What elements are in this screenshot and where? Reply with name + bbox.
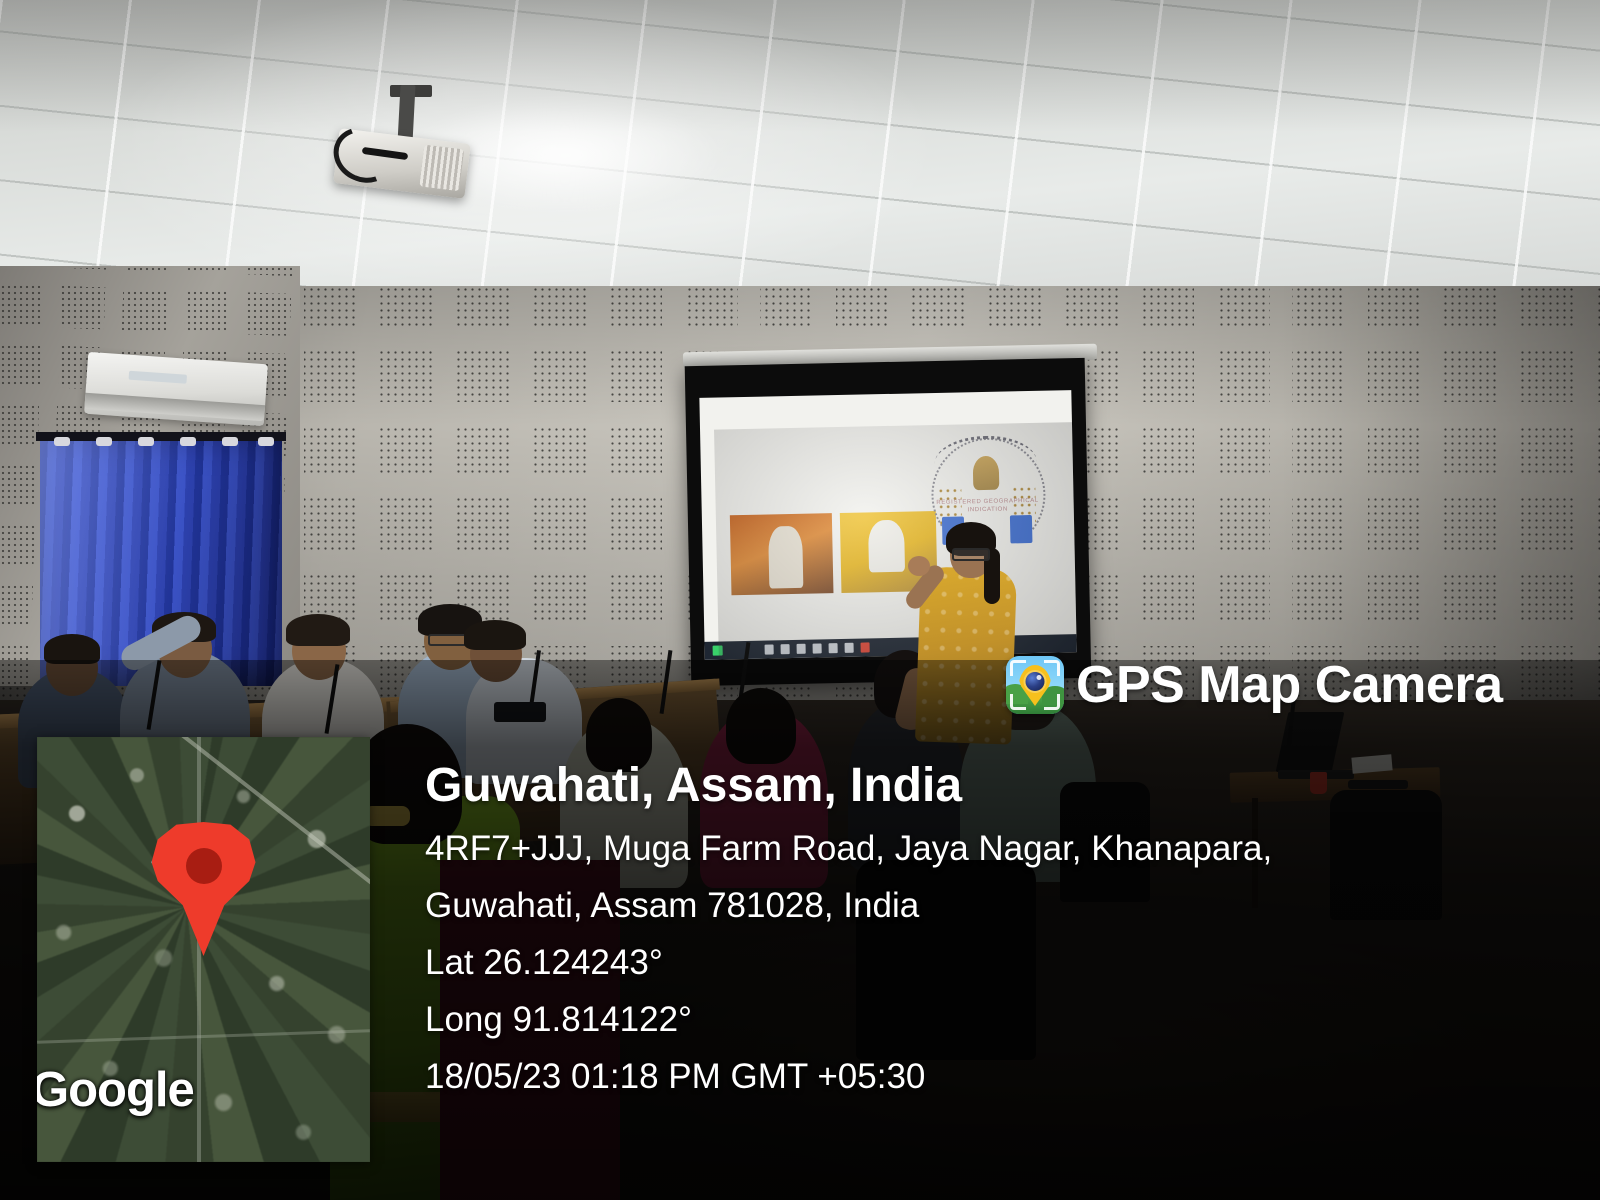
projector-mount-pole xyxy=(397,85,415,143)
curtain-ring xyxy=(258,437,274,446)
taskbar-app-icon xyxy=(797,644,806,654)
map-thumbnail[interactable]: Google xyxy=(37,737,370,1162)
projection-screen-frame: REGISTERED GEOGRAPHICAL INDICATION xyxy=(685,358,1092,686)
latitude-value: Lat 26.124243° xyxy=(425,934,1272,991)
curtain-ring xyxy=(96,437,112,446)
slide-photo-left xyxy=(730,513,834,595)
map-pin-icon xyxy=(152,822,256,956)
taskbar-app-icon xyxy=(813,643,822,653)
curtain-ring xyxy=(54,437,70,446)
taskbar-app-icon xyxy=(781,644,790,654)
gps-map-camera-logo-icon xyxy=(1006,656,1064,714)
curtain-rod xyxy=(36,432,286,441)
app-name-label: GPS Map Camera xyxy=(1076,659,1503,711)
ac-display-strip xyxy=(129,371,187,384)
taskbar-start-icon xyxy=(713,645,723,655)
curtain-ring xyxy=(180,437,196,446)
taskbar-app-icon xyxy=(861,642,870,652)
google-watermark: Google xyxy=(37,1062,194,1118)
curtain-ring xyxy=(222,437,238,446)
longitude-value: Long 91.814122° xyxy=(425,991,1272,1048)
projection-screen-surface: REGISTERED GEOGRAPHICAL INDICATION xyxy=(699,390,1076,660)
audience-person-hair xyxy=(464,620,526,650)
presenter-hand xyxy=(908,556,930,576)
slide-caption: REGISTERED GEOGRAPHICAL INDICATION xyxy=(930,497,1046,515)
curtain-ring xyxy=(138,437,154,446)
gps-map-camera-brand: GPS Map Camera xyxy=(1006,656,1503,714)
address-line-1: 4RF7+JJJ, Muga Farm Road, Jaya Nagar, Kh… xyxy=(425,820,1272,877)
air-conditioner-unit xyxy=(84,352,268,426)
taskbar-app-icon xyxy=(829,643,838,653)
timestamp-value: 18/05/23 01:18 PM GMT +05:30 xyxy=(425,1048,1272,1105)
gps-map-camera-photo: REGISTERED GEOGRAPHICAL INDICATION xyxy=(0,0,1600,1200)
location-info-block: Guwahati, Assam, India 4RF7+JJJ, Muga Fa… xyxy=(425,761,1272,1105)
projector-lens xyxy=(419,145,464,192)
presenter-glasses xyxy=(952,548,990,561)
place-name: Guwahati, Assam, India xyxy=(425,761,1272,812)
taskbar-app-icon xyxy=(765,644,774,654)
address-line-2: Guwahati, Assam 781028, India xyxy=(425,877,1272,934)
taskbar-app-icon xyxy=(845,643,854,653)
audience-person-hair xyxy=(286,614,350,646)
